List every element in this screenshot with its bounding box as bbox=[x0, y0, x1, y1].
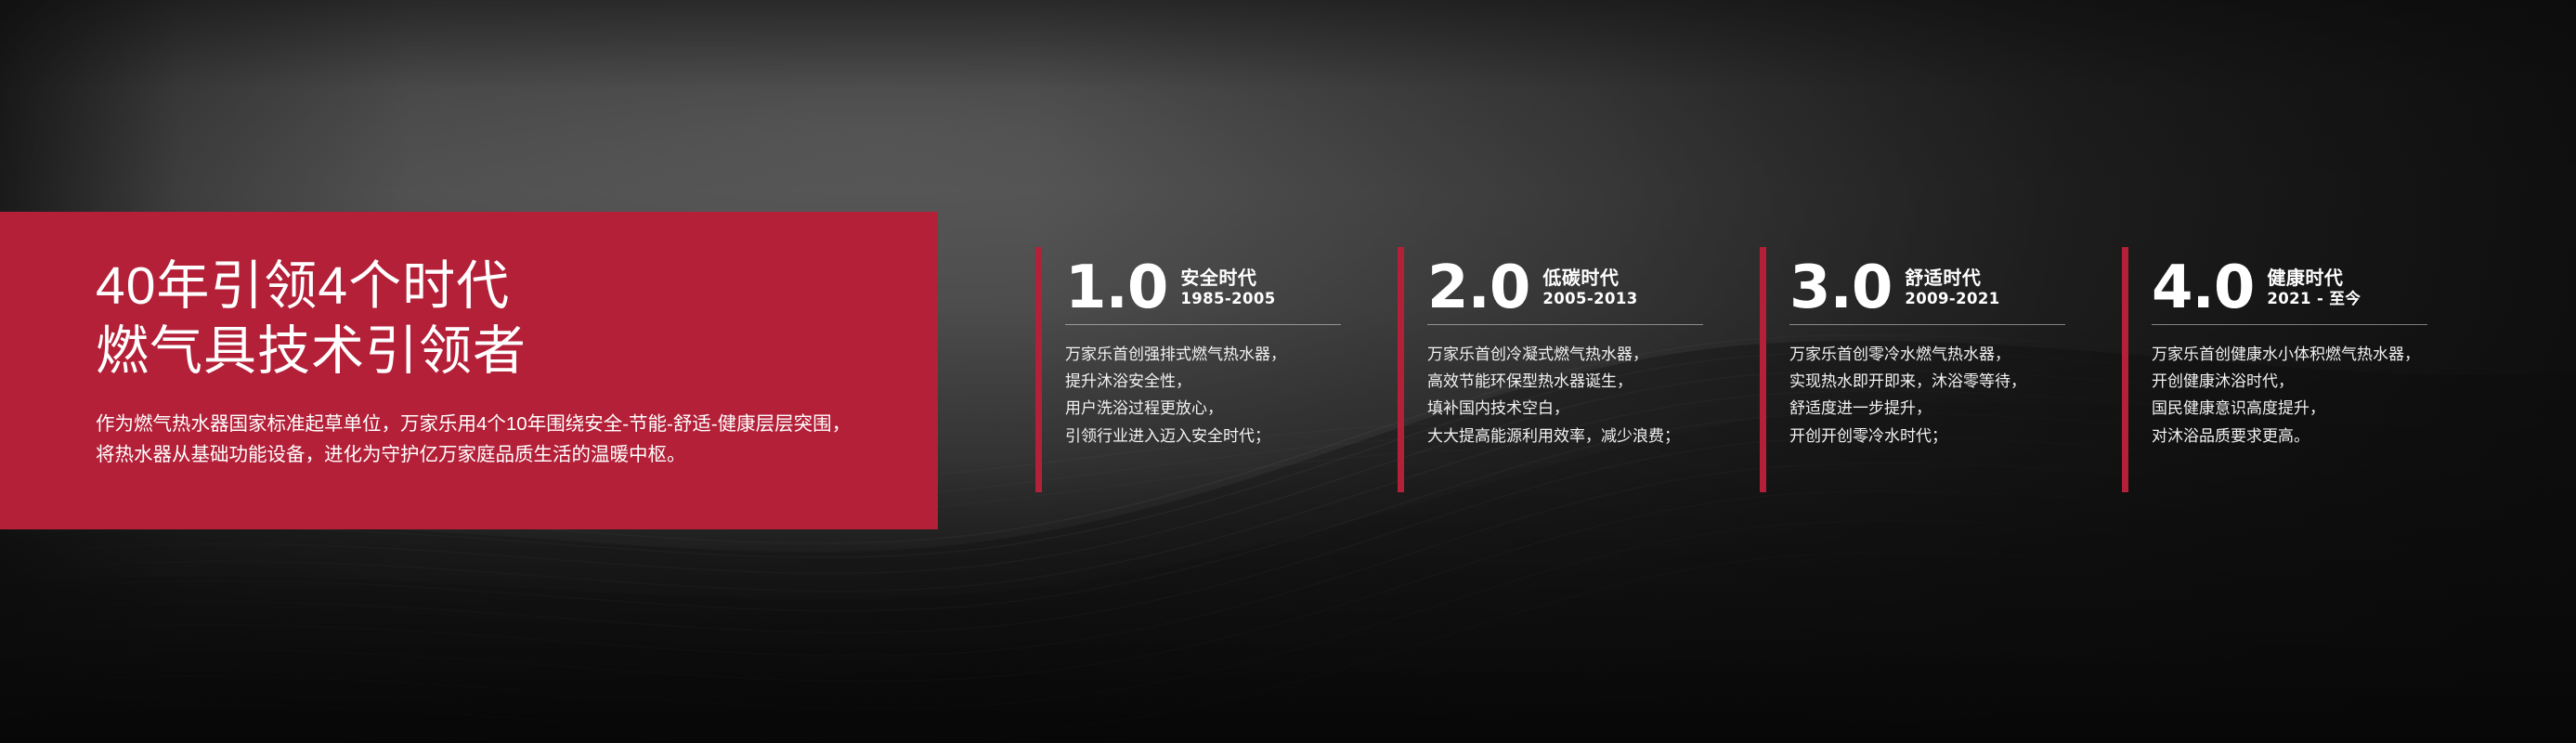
era-divider-4 bbox=[2152, 324, 2427, 325]
hero-red-panel: 40年引领4个时代 燃气具技术引领者 作为燃气热水器国家标准起草单位，万家乐用4… bbox=[0, 212, 938, 529]
era-body-line: 万家乐首创冷凝式燃气热水器， bbox=[1427, 341, 1760, 368]
era-meta-2: 低碳时代 2005-2013 bbox=[1542, 267, 1637, 312]
era-years-2: 2005-2013 bbox=[1542, 290, 1637, 309]
era-body-3: 万家乐首创零冷水燃气热水器， 实现热水即开即来，沐浴零等待， 舒适度进一步提升，… bbox=[1789, 341, 2122, 450]
era-number-2: 2.0 bbox=[1427, 264, 1529, 312]
era-number-4: 4.0 bbox=[2152, 264, 2254, 312]
era-number-3: 3.0 bbox=[1789, 264, 1892, 312]
era-meta-1: 安全时代 1985-2005 bbox=[1180, 267, 1275, 312]
era-body-line: 国民健康意识高度提升， bbox=[2152, 395, 2484, 422]
era-years-1: 1985-2005 bbox=[1180, 290, 1275, 309]
era-accent-bar-3 bbox=[1760, 247, 1766, 492]
era-accent-bar-1 bbox=[1035, 247, 1042, 492]
era-number-1: 1.0 bbox=[1065, 264, 1167, 312]
era-name-2: 低碳时代 bbox=[1542, 267, 1637, 290]
era-body-line: 实现热水即开即来，沐浴零等待， bbox=[1789, 368, 2122, 395]
banner-stage: 40年引领4个时代 燃气具技术引领者 作为燃气热水器国家标准起草单位，万家乐用4… bbox=[0, 0, 2576, 743]
era-name-1: 安全时代 bbox=[1180, 267, 1275, 290]
hero-title-line-1: 40年引领4个时代 bbox=[96, 254, 938, 319]
hero-subtitle-line-2: 将热水器从基础功能设备，进化为守护亿万家庭品质生活的温暖中枢。 bbox=[96, 439, 938, 470]
era-body-line: 开创健康沐浴时代， bbox=[2152, 368, 2484, 395]
era-divider-1 bbox=[1065, 324, 1341, 325]
era-body-1: 万家乐首创强排式燃气热水器， 提升沐浴安全性， 用户洗浴过程更放心， 引领行业进… bbox=[1065, 341, 1398, 450]
era-meta-3: 舒适时代 2009-2021 bbox=[1905, 267, 1999, 312]
era-body-line: 万家乐首创健康水小体积燃气热水器， bbox=[2152, 341, 2484, 368]
era-body-line: 对沐浴品质要求更高。 bbox=[2152, 423, 2484, 450]
era-meta-4: 健康时代 2021 - 至今 bbox=[2267, 267, 2361, 312]
era-body-line: 填补国内技术空白， bbox=[1427, 395, 1760, 422]
era-years-4: 2021 - 至今 bbox=[2267, 290, 2361, 309]
era-body-line: 开创开创零冷水时代； bbox=[1789, 423, 2122, 450]
era-body-2: 万家乐首创冷凝式燃气热水器， 高效节能环保型热水器诞生， 填补国内技术空白， 大… bbox=[1427, 341, 1760, 450]
era-body-line: 舒适度进一步提升， bbox=[1789, 395, 2122, 422]
hero-subtitle: 作为燃气热水器国家标准起草单位，万家乐用4个10年围绕安全-节能-舒适-健康层层… bbox=[96, 409, 938, 470]
era-card-1: 1.0 安全时代 1985-2005 万家乐首创强排式燃气热水器， 提升沐浴安全… bbox=[1035, 247, 1398, 492]
era-body-line: 万家乐首创零冷水燃气热水器， bbox=[1789, 341, 2122, 368]
era-header-4: 4.0 健康时代 2021 - 至今 bbox=[2152, 247, 2484, 312]
era-card-2: 2.0 低碳时代 2005-2013 万家乐首创冷凝式燃气热水器， 高效节能环保… bbox=[1398, 247, 1760, 492]
era-header-2: 2.0 低碳时代 2005-2013 bbox=[1427, 247, 1760, 312]
era-body-line: 提升沐浴安全性， bbox=[1065, 368, 1398, 395]
era-divider-2 bbox=[1427, 324, 1703, 325]
era-body-line: 大大提高能源利用效率，减少浪费； bbox=[1427, 423, 1760, 450]
era-body-4: 万家乐首创健康水小体积燃气热水器， 开创健康沐浴时代， 国民健康意识高度提升， … bbox=[2152, 341, 2484, 450]
era-timeline: 1.0 安全时代 1985-2005 万家乐首创强排式燃气热水器， 提升沐浴安全… bbox=[1035, 247, 2484, 492]
era-body-line: 用户洗浴过程更放心， bbox=[1065, 395, 1398, 422]
era-divider-3 bbox=[1789, 324, 2065, 325]
era-accent-bar-2 bbox=[1398, 247, 1404, 492]
era-body-line: 引领行业进入迈入安全时代； bbox=[1065, 423, 1398, 450]
era-header-3: 3.0 舒适时代 2009-2021 bbox=[1789, 247, 2122, 312]
hero-title-line-2: 燃气具技术引领者 bbox=[96, 319, 938, 385]
era-years-3: 2009-2021 bbox=[1905, 290, 1999, 309]
era-header-1: 1.0 安全时代 1985-2005 bbox=[1065, 247, 1398, 312]
era-body-line: 高效节能环保型热水器诞生， bbox=[1427, 368, 1760, 395]
era-card-3: 3.0 舒适时代 2009-2021 万家乐首创零冷水燃气热水器， 实现热水即开… bbox=[1760, 247, 2122, 492]
era-card-4: 4.0 健康时代 2021 - 至今 万家乐首创健康水小体积燃气热水器， 开创健… bbox=[2122, 247, 2484, 492]
era-body-line: 万家乐首创强排式燃气热水器， bbox=[1065, 341, 1398, 368]
hero-subtitle-line-1: 作为燃气热水器国家标准起草单位，万家乐用4个10年围绕安全-节能-舒适-健康层层… bbox=[96, 409, 938, 439]
era-accent-bar-4 bbox=[2122, 247, 2128, 492]
era-name-3: 舒适时代 bbox=[1905, 267, 1999, 290]
era-name-4: 健康时代 bbox=[2267, 267, 2361, 290]
